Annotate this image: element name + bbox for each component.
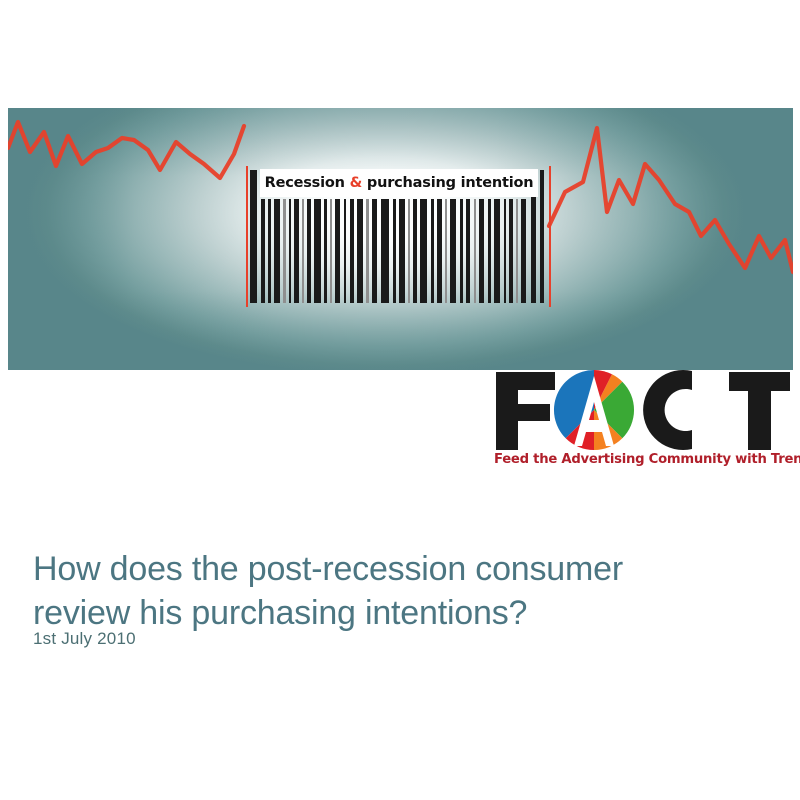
fact-logo-tagline: Feed the Advertising Community with Tren… — [494, 452, 792, 467]
barcode-bar — [261, 199, 265, 303]
fact-logo: Feed the Advertising Community with Tren… — [492, 368, 792, 478]
barcode-bar — [366, 199, 369, 303]
barcode-bar — [488, 199, 491, 303]
barcode-caption: Recession & purchasing intention — [260, 169, 538, 197]
barcode-bar — [330, 199, 332, 303]
barcode-caption-prefix: Recession — [265, 175, 350, 191]
barcode-red-edge-left — [246, 166, 248, 307]
page-title-line-2: review his purchasing intentions? — [33, 591, 753, 635]
barcode-bar — [302, 199, 304, 303]
barcode-bar — [268, 199, 271, 303]
barcode-bar — [335, 199, 340, 303]
trend-line-right — [549, 128, 793, 272]
barcode-bar — [274, 199, 280, 303]
logo-letter-f — [496, 372, 555, 450]
barcode-bar — [466, 199, 470, 303]
barcode-bar — [540, 170, 544, 303]
barcode-bar — [450, 199, 456, 303]
barcode-graphic: Recession & purchasing intention — [246, 170, 551, 303]
barcode-bar — [283, 199, 286, 303]
barcode-bar — [250, 170, 257, 303]
barcode-bar — [474, 199, 476, 303]
barcode-bar — [431, 199, 434, 303]
trend-line-left — [8, 122, 244, 178]
barcode-bar — [460, 199, 463, 303]
logo-color-wheel — [554, 370, 634, 450]
barcode-bar — [479, 199, 484, 303]
barcode-bar — [307, 199, 311, 303]
barcode-bar — [509, 199, 513, 303]
barcode-bar — [408, 199, 410, 303]
barcode-bar — [294, 199, 299, 303]
barcode-bar — [344, 199, 346, 303]
barcode-bar — [420, 199, 427, 303]
barcode-red-edge-right — [549, 166, 551, 307]
hero-banner: Recession & purchasing intention — [8, 108, 793, 370]
barcode-caption-ampersand: & — [350, 175, 362, 191]
fact-logo-wordmark — [492, 368, 792, 452]
barcode-bar — [437, 199, 442, 303]
slide-root: Recession & purchasing intention — [0, 0, 800, 800]
barcode-bar — [399, 199, 405, 303]
barcode-bar — [494, 199, 500, 303]
barcode-bar — [350, 199, 354, 303]
barcode-bar — [289, 199, 291, 303]
barcode-bar — [357, 199, 363, 303]
barcode-bar — [504, 199, 506, 303]
publication-date: 1st July 2010 — [33, 629, 136, 649]
logo-letter-c-shape — [643, 370, 692, 450]
barcode-bar — [445, 199, 447, 303]
barcode-bar — [393, 199, 396, 303]
barcode-bar — [372, 199, 377, 303]
barcode-bar — [324, 199, 327, 303]
barcode-bar — [516, 199, 518, 303]
barcode-bar — [521, 199, 526, 303]
barcode-bar — [314, 199, 321, 303]
logo-letter-t — [729, 372, 790, 450]
page-title: How does the post-recession consumer rev… — [33, 547, 753, 635]
barcode-bar — [413, 199, 417, 303]
barcode-caption-suffix: purchasing intention — [362, 175, 533, 191]
page-title-line-1: How does the post-recession consumer — [33, 550, 623, 588]
barcode-bar — [381, 199, 389, 303]
